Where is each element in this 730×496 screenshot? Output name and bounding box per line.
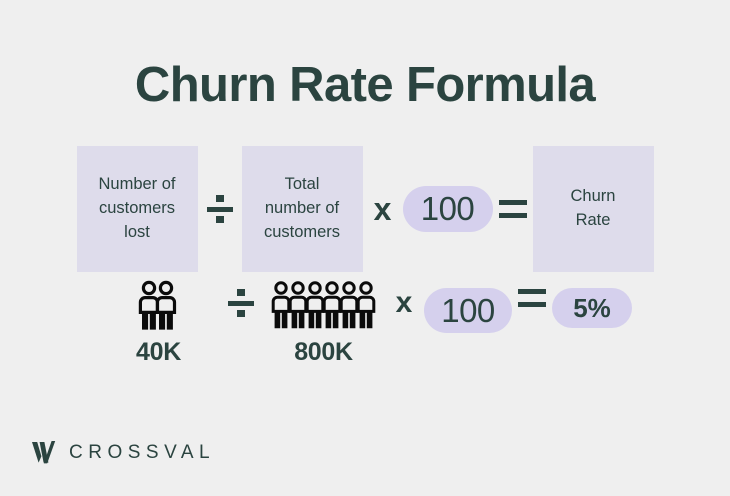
crossval-w-mark-icon xyxy=(32,440,60,464)
poster-canvas: Churn Rate Formula Number of customers l… xyxy=(0,0,730,496)
person-icon-group-numerator xyxy=(136,280,182,330)
divide-icon xyxy=(207,194,233,224)
example-numerator: 40K xyxy=(98,280,219,365)
example-denominator-value: 800K xyxy=(294,340,353,365)
formula-symbolic-row: Number of customers lost Total number of… xyxy=(0,146,730,272)
multiply-operator: x xyxy=(363,193,403,225)
equals-operator xyxy=(493,199,533,219)
multiply-icon: x xyxy=(396,288,413,318)
divide-operator xyxy=(198,194,242,224)
term-denominator-line-1: Total xyxy=(264,173,340,197)
example-denominator: 800K xyxy=(263,280,384,365)
divide-icon xyxy=(228,288,254,318)
brand-name: CROSSVAL xyxy=(69,443,215,462)
term-denominator-line-2: number of xyxy=(264,197,340,221)
multiplier-pill: 100 xyxy=(403,186,493,232)
equals-operator-example xyxy=(512,288,552,308)
term-denominator-box: Total number of customers xyxy=(242,146,363,272)
brand-logo: CROSSVAL xyxy=(32,440,215,464)
formula-example-row: 40K xyxy=(0,280,730,376)
person-icon-group-denominator xyxy=(271,280,377,330)
term-result-line-2: Rate xyxy=(571,209,616,233)
term-numerator-line-3: lost xyxy=(98,221,175,245)
term-numerator-line-2: customers xyxy=(98,197,175,221)
term-numerator-line-1: Number of xyxy=(98,173,175,197)
divide-operator-example xyxy=(219,288,263,318)
equals-icon xyxy=(518,288,546,308)
multiply-icon: x xyxy=(374,193,392,225)
example-result-pill: 5% xyxy=(552,288,632,328)
example-multiplier-pill: 100 xyxy=(424,288,512,333)
term-numerator-box: Number of customers lost xyxy=(77,146,198,272)
multiply-operator-example: x xyxy=(384,288,424,318)
person-icon xyxy=(136,280,182,330)
term-result-box: Churn Rate xyxy=(533,146,654,272)
term-result-line-1: Churn xyxy=(571,185,616,209)
person-icon xyxy=(271,280,377,330)
term-denominator-line-3: customers xyxy=(264,221,340,245)
equals-icon xyxy=(499,199,527,219)
example-numerator-value: 40K xyxy=(136,340,181,365)
page-title: Churn Rate Formula xyxy=(0,60,730,111)
